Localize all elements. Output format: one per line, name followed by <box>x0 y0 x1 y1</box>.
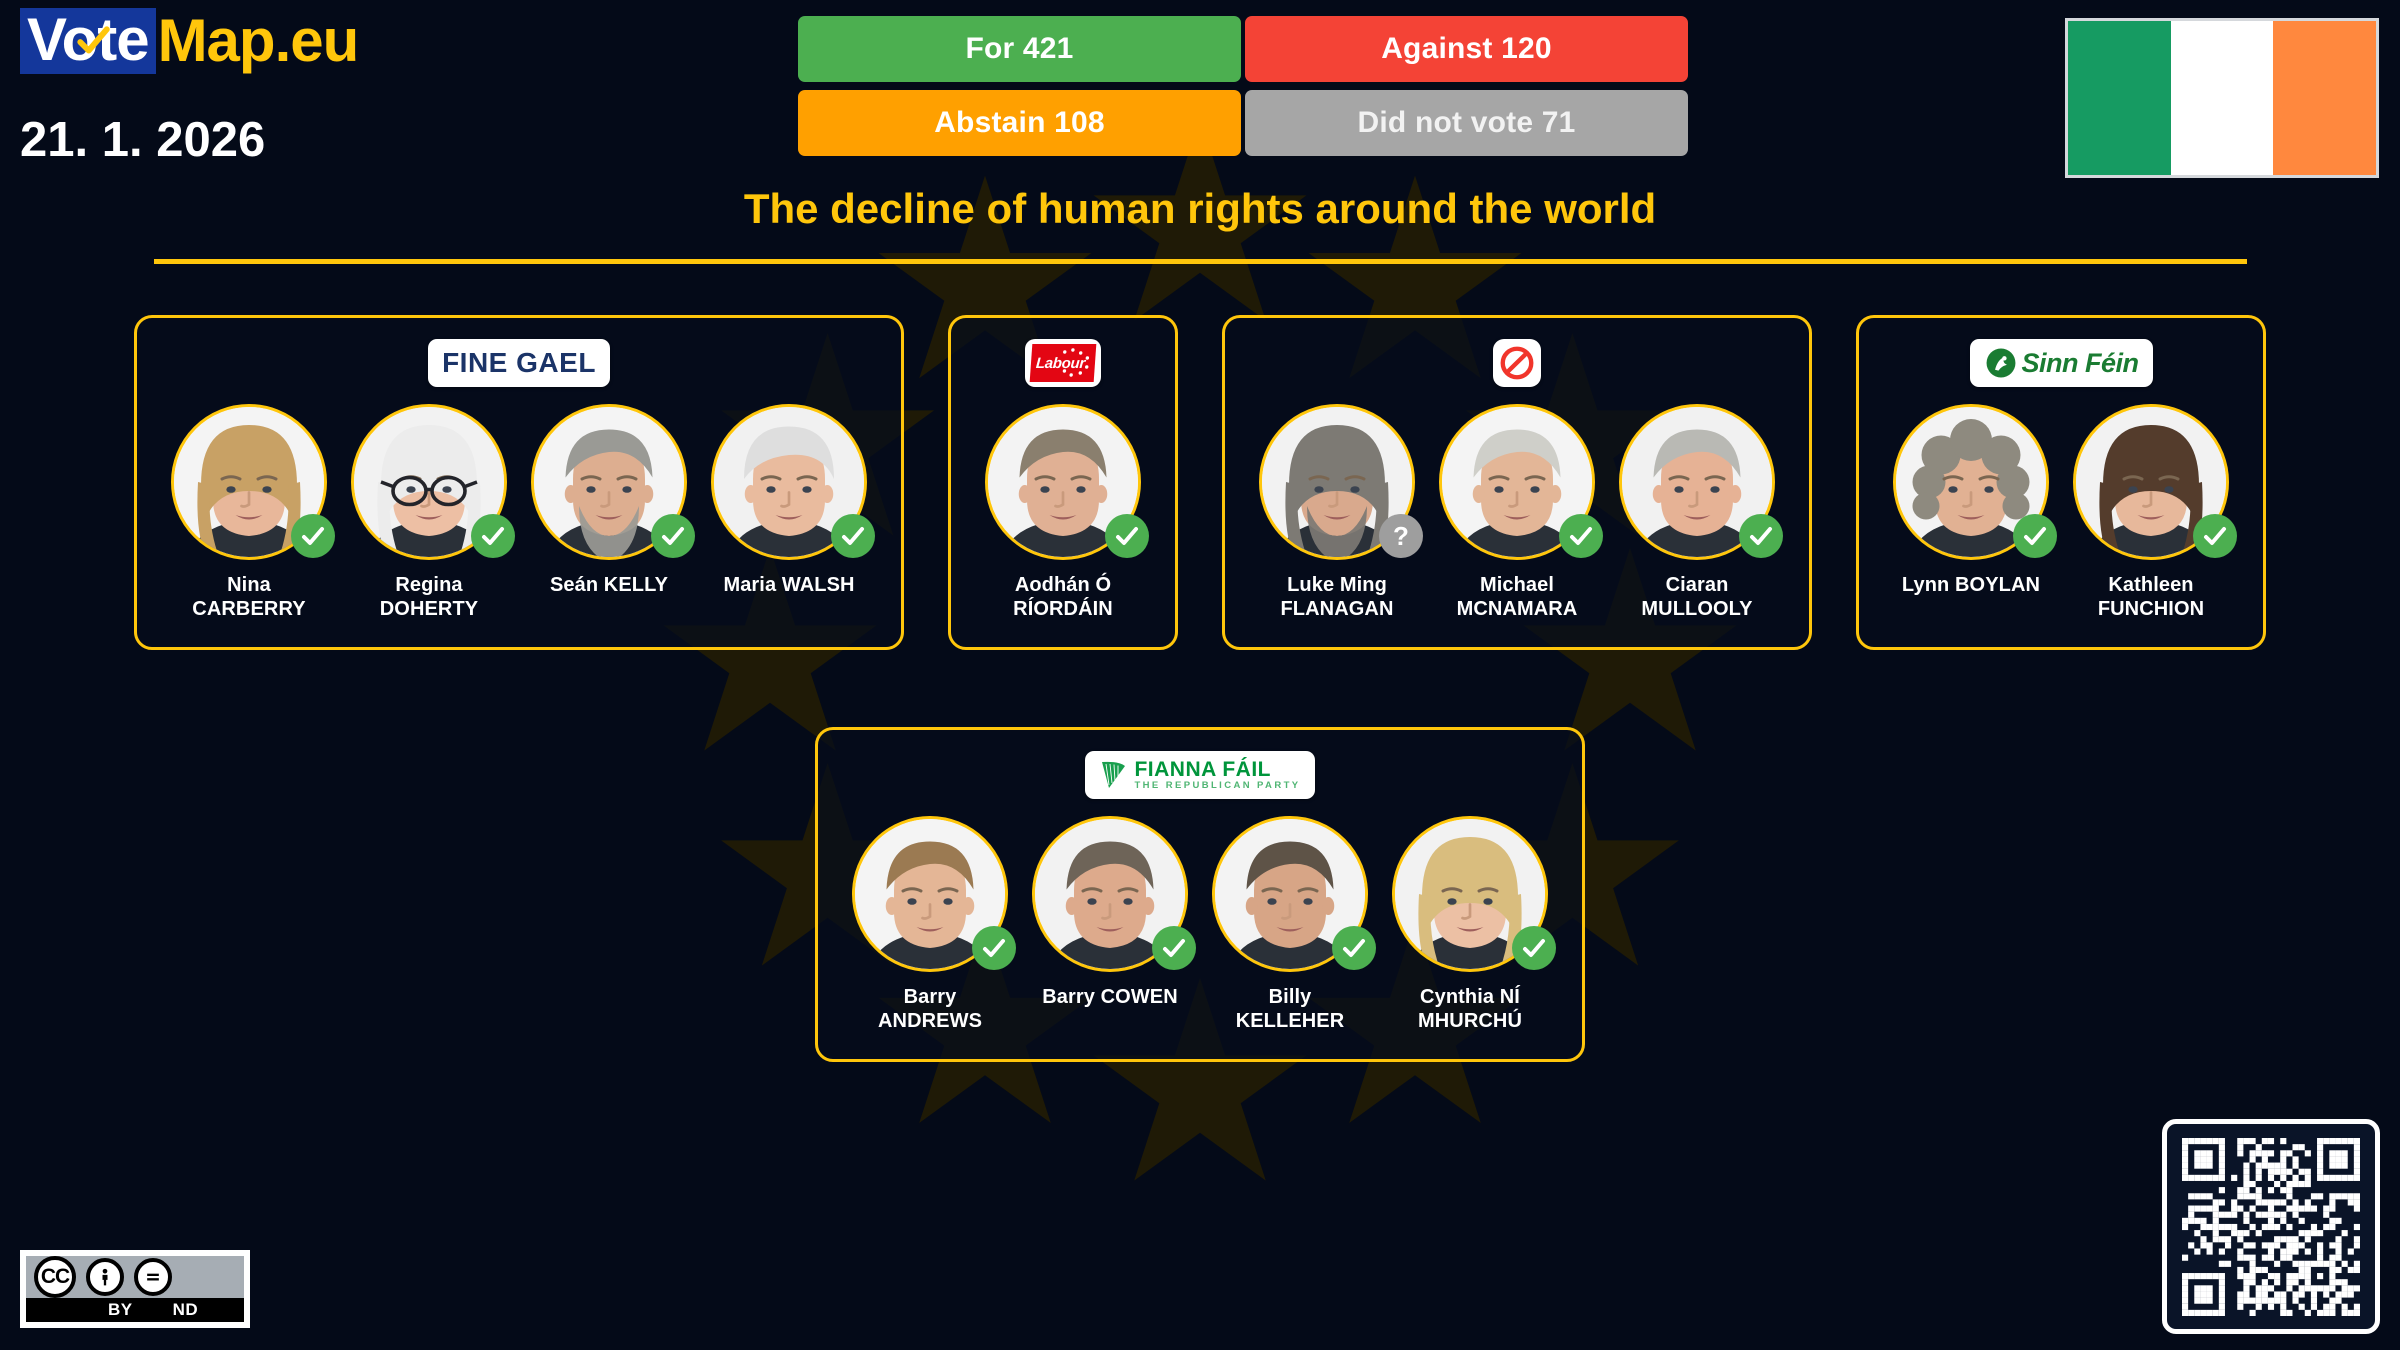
vote-badge-for <box>1512 926 1556 970</box>
vote-badge-for <box>1739 514 1783 558</box>
ireland-flag <box>2065 18 2379 178</box>
member-card[interactable]: Cynthia NÍ MHURCHÚ <box>1380 816 1560 1033</box>
member-list: Lynn BOYLAN Kathleen FUNCHION <box>1881 404 2241 621</box>
member-name: Cynthia NÍ MHURCHÚ <box>1418 986 1522 1033</box>
avatar-wrap <box>1619 404 1775 560</box>
check-icon <box>1748 523 1774 549</box>
member-list: ?Luke Ming FLANAGAN Michael MCNAMARA Cia <box>1247 404 1787 621</box>
check-icon <box>2022 523 2048 549</box>
fianna-fail-logo-subtext: THE REPUBLICAN PARTY <box>1134 781 1300 791</box>
check-icon <box>1521 935 1547 961</box>
member-card[interactable]: Regina DOHERTY <box>339 404 519 621</box>
member-card[interactable]: Barry ANDREWS <box>840 816 1020 1033</box>
member-card[interactable]: Michael MCNAMARA <box>1427 404 1607 621</box>
tally-for-button[interactable]: For 421 <box>798 16 1241 82</box>
fine-gael-logo: FINE GAEL <box>428 339 610 387</box>
member-card[interactable]: Barry COWEN <box>1020 816 1200 1010</box>
no-party-logo <box>1493 339 1541 387</box>
fianna-fail-logo-text-wrap: FIANNA FÁILTHE REPUBLICAN PARTY <box>1134 759 1300 791</box>
member-name: Seán KELLY <box>550 574 668 598</box>
party-logo-sinn-fein: Sinn Féin <box>1881 336 2241 390</box>
party-group-fine-gael: FINE GAEL Nina CARBERRY <box>134 315 904 650</box>
member-card[interactable]: Lynn BOYLAN <box>1881 404 2061 598</box>
member-name: Luke Ming FLANAGAN <box>1280 574 1393 621</box>
cc-icon: CC <box>34 1256 76 1298</box>
member-card[interactable]: Maria WALSH <box>699 404 879 598</box>
member-name: Barry COWEN <box>1042 986 1178 1010</box>
check-icon <box>1161 935 1187 961</box>
member-name: Kathleen FUNCHION <box>2098 574 2204 621</box>
party-groups-row-bottom: FIANNA FÁILTHE REPUBLICAN PARTY Barry AN… <box>0 727 2400 1062</box>
check-icon <box>76 24 110 58</box>
check-icon <box>1568 523 1594 549</box>
avatar-wrap <box>1893 404 2049 560</box>
vote-badge-for <box>651 514 695 558</box>
member-name: Aodhán Ó RÍORDÁIN <box>1013 574 1113 621</box>
vote-badge-for <box>1332 926 1376 970</box>
party-logo-no-party <box>1247 336 1787 390</box>
member-card[interactable]: Billy KELLEHER <box>1200 816 1380 1033</box>
vote-badge-for <box>471 514 515 558</box>
vote-badge-for <box>2013 514 2057 558</box>
avatar-wrap <box>1032 816 1188 972</box>
avatar-wrap <box>1392 816 1548 972</box>
member-name: Michael MCNAMARA <box>1457 574 1578 621</box>
member-name: Regina DOHERTY <box>380 574 478 621</box>
member-name: Barry ANDREWS <box>878 986 982 1033</box>
member-name: Lynn BOYLAN <box>1902 574 2040 598</box>
flag-stripe-green <box>2068 21 2171 175</box>
labour-logo-mark: Labour <box>1030 344 1097 382</box>
member-name: Nina CARBERRY <box>192 574 305 621</box>
check-icon <box>981 935 1007 961</box>
check-icon <box>1341 935 1367 961</box>
flag-stripe-white <box>2171 21 2274 175</box>
tally-abstain-button[interactable]: Abstain 108 <box>798 90 1241 156</box>
site-logo[interactable]: Vote Map.eu <box>20 8 358 74</box>
member-list: Barry ANDREWS Barry COWEN Billy KELLEHER <box>840 816 1560 1033</box>
member-name: Ciaran MULLOOLY <box>1641 574 1752 621</box>
member-card[interactable]: Nina CARBERRY <box>159 404 339 621</box>
vote-badge-for <box>2193 514 2237 558</box>
party-group-fianna-fail: FIANNA FÁILTHE REPUBLICAN PARTY Barry AN… <box>815 727 1585 1062</box>
cc-labels-strip: BY ND <box>26 1298 244 1322</box>
harp-icon <box>1099 758 1129 792</box>
check-icon <box>2202 523 2228 549</box>
page-title: The decline of human rights around the w… <box>0 185 2400 233</box>
fine-gael-logo-text: FINE GAEL <box>442 347 596 379</box>
qr-code[interactable] <box>2162 1119 2380 1334</box>
member-name: Maria WALSH <box>723 574 854 598</box>
avatar-wrap <box>2073 404 2229 560</box>
party-logo-fine-gael: FINE GAEL <box>159 336 879 390</box>
party-group-sinn-fein: Sinn Féin Lynn BOYLAN <box>1856 315 2266 650</box>
vote-date: 21. 1. 2026 <box>20 112 265 168</box>
sinn-fein-logo-text: Sinn Féin <box>2022 348 2139 379</box>
fianna-fail-logo: FIANNA FÁILTHE REPUBLICAN PARTY <box>1085 751 1314 799</box>
member-card[interactable]: ?Luke Ming FLANAGAN <box>1247 404 1427 621</box>
vote-badge-for <box>1559 514 1603 558</box>
avatar-wrap: ? <box>1259 404 1415 560</box>
check-icon <box>840 523 866 549</box>
sinn-fein-emblem-icon <box>1984 346 2018 380</box>
party-groups-row-top: FINE GAEL Nina CARBERRY <box>0 315 2400 650</box>
avatar-wrap <box>852 816 1008 972</box>
labour-logo: Labour <box>1025 339 1101 387</box>
member-name: Billy KELLEHER <box>1236 986 1345 1033</box>
tally-did-not-vote-button[interactable]: Did not vote 71 <box>1245 90 1688 156</box>
party-logo-fianna-fail: FIANNA FÁILTHE REPUBLICAN PARTY <box>840 748 1560 802</box>
member-card[interactable]: Seán KELLY <box>519 404 699 598</box>
vote-badge-for <box>1105 514 1149 558</box>
cc-by-label: BY <box>108 1300 133 1320</box>
avatar-wrap <box>351 404 507 560</box>
check-icon <box>660 523 686 549</box>
labour-stars-icon <box>1057 347 1093 379</box>
member-card[interactable]: Ciaran MULLOOLY <box>1607 404 1787 621</box>
member-list: Aodhán Ó RÍORDÁIN <box>973 404 1153 621</box>
avatar-wrap <box>531 404 687 560</box>
member-card[interactable]: Kathleen FUNCHION <box>2061 404 2241 621</box>
vote-badge-for <box>831 514 875 558</box>
person-icon <box>86 1258 124 1296</box>
sinn-fein-logo: Sinn Féin <box>1970 339 2153 387</box>
member-card[interactable]: Aodhán Ó RÍORDÁIN <box>973 404 1153 621</box>
creative-commons-by-nd-badge[interactable]: CC BY ND <box>20 1250 250 1328</box>
equals-icon <box>134 1258 172 1296</box>
member-list: Nina CARBERRY Regina DOHERTY <box>159 404 879 621</box>
vote-badge-for <box>972 926 1016 970</box>
vote-badge-for <box>1152 926 1196 970</box>
title-section: The decline of human rights around the w… <box>0 185 2400 264</box>
cc-nd-label: ND <box>173 1300 199 1320</box>
title-divider <box>154 259 2247 264</box>
qr-code-image <box>2182 1138 2360 1316</box>
question-mark-icon: ? <box>1379 514 1423 558</box>
party-logo-labour: Labour <box>973 336 1153 390</box>
avatar-wrap <box>1439 404 1595 560</box>
party-group-labour: Labour Aodhán Ó RÍORDÁIN <box>948 315 1178 650</box>
avatar-wrap <box>171 404 327 560</box>
check-icon <box>1114 523 1140 549</box>
flag-stripe-orange <box>2273 21 2376 175</box>
page-header: Vote Map.eu 21. 1. 2026 For 421 Against … <box>0 0 2400 195</box>
check-icon <box>480 523 506 549</box>
avatar-wrap <box>711 404 867 560</box>
cc-icons-strip: CC <box>26 1256 244 1298</box>
vote-badge-for <box>291 514 335 558</box>
avatar-wrap <box>985 404 1141 560</box>
prohibited-icon <box>1498 344 1536 382</box>
tally-against-button[interactable]: Against 120 <box>1245 16 1688 82</box>
party-group-no-party: ?Luke Ming FLANAGAN Michael MCNAMARA Cia <box>1222 315 1812 650</box>
fianna-fail-logo-text: FIANNA FÁIL <box>1134 759 1300 780</box>
vote-tally-buttons: For 421 Against 120 Abstain 108 Did not … <box>798 16 1688 156</box>
check-icon <box>300 523 326 549</box>
avatar-wrap <box>1212 816 1368 972</box>
logo-map-text: Map.eu <box>158 10 359 72</box>
